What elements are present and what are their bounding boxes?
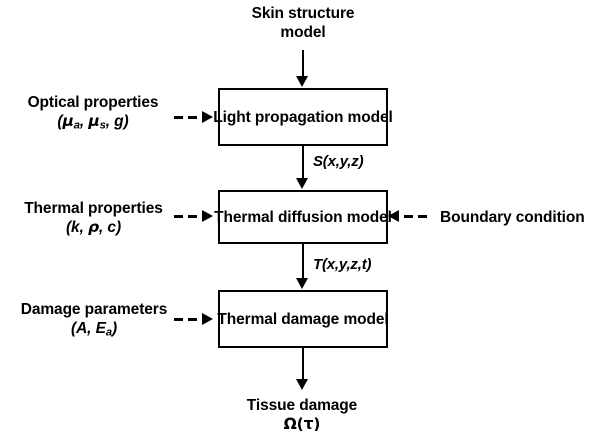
skin-structure-model-line2: model xyxy=(233,23,373,42)
thermal-damage-model-box[interactable]: Thermal damage model xyxy=(218,290,388,348)
arrow-boundary-to-diffusion xyxy=(388,209,434,225)
optical-properties-title: Optical properties xyxy=(28,94,159,111)
arrow-thermal-props-to-diffusion-head xyxy=(202,210,213,222)
tissue-damage-line1: Tissue damage xyxy=(247,397,357,414)
arrow-optical-to-light xyxy=(174,110,218,126)
optical-properties-params: (μa, μs, g) xyxy=(18,112,168,135)
light-propagation-model-box[interactable]: Light propagation model xyxy=(218,88,388,146)
thermal-damage-model-line2: model xyxy=(343,311,388,328)
arrow-damage-to-output-line xyxy=(302,348,305,380)
light-propagation-model-line2: model xyxy=(348,109,393,126)
arrow-skin-to-light-head xyxy=(296,76,308,87)
thermal-diffusion-model-line1: Thermal diffusion xyxy=(214,209,342,226)
arrow-damage-to-output-head xyxy=(296,379,308,390)
arrow-light-to-thermal-line xyxy=(302,146,305,179)
arrow-thermal-to-damage-line xyxy=(302,244,305,278)
thermal-diffusion-model-line2: model xyxy=(347,209,392,226)
arrow-boundary-to-diffusion-head xyxy=(388,210,399,222)
boundary-condition-label: Boundary condition xyxy=(440,208,585,227)
diagram-canvas: Skin structure model Light propagation m… xyxy=(0,0,600,441)
arrow-damage-params-to-damage-head xyxy=(202,313,213,325)
skin-structure-model-label: Skin structure model xyxy=(233,4,373,42)
tissue-damage-output-label: Tissue damage Ω(τ) xyxy=(232,396,372,434)
thermal-properties-params: (k, ρ, c) xyxy=(16,218,171,237)
arrow-skin-to-light-line xyxy=(302,50,305,77)
thermal-diffusion-model-box[interactable]: Thermal diffusion model xyxy=(218,190,388,244)
arrow-optical-to-light-head xyxy=(202,111,213,123)
temperature-field-label: T(x,y,z,t) xyxy=(313,256,371,273)
thermal-properties-title: Thermal properties xyxy=(24,200,163,217)
optical-properties-label: Optical properties (μa, μs, g) xyxy=(18,93,168,135)
skin-structure-model-line1: Skin structure xyxy=(252,5,355,22)
thermal-damage-model-line1: Thermal damage xyxy=(217,311,339,328)
thermal-properties-label: Thermal properties (k, ρ, c) xyxy=(16,199,171,237)
arrow-light-to-thermal-head xyxy=(296,178,308,189)
damage-parameters-label: Damage parameters (A, Ea) xyxy=(14,300,174,342)
arrow-thermal-to-damage-head xyxy=(296,278,308,289)
damage-parameters-params: (A, Ea) xyxy=(14,319,174,342)
thermal-diffusion-model-label: Thermal diffusion model xyxy=(214,208,392,227)
light-propagation-model-line1: Light propagation xyxy=(213,109,343,126)
light-propagation-model-label: Light propagation model xyxy=(213,108,392,127)
damage-parameters-title: Damage parameters xyxy=(21,301,168,318)
thermal-damage-model-label: Thermal damage model xyxy=(217,310,388,329)
arrow-damage-params-to-damage xyxy=(174,312,218,328)
tissue-damage-line2: Ω(τ) xyxy=(232,415,372,434)
source-term-label: S(x,y,z) xyxy=(313,153,363,170)
arrow-thermal-props-to-diffusion xyxy=(174,209,218,225)
